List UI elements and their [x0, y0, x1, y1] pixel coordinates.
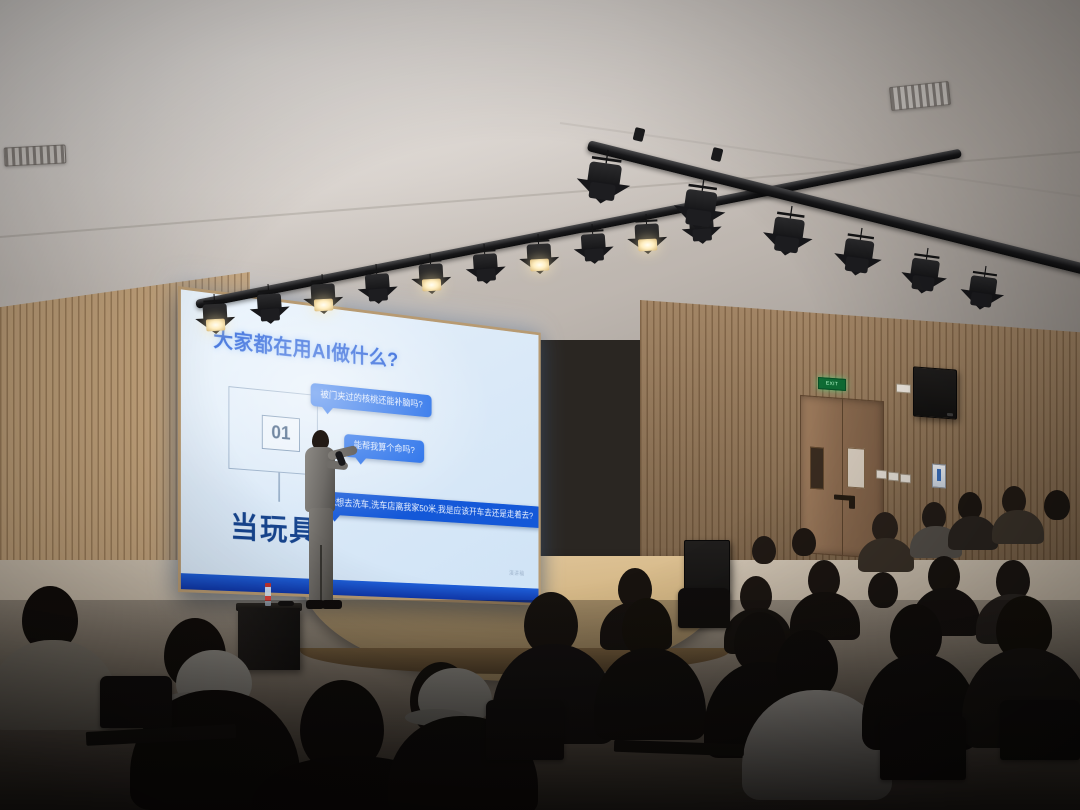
door-vision-panel	[810, 447, 824, 490]
projection-screen: 大家都在用AI做什么? 01 当玩具 被门夹过的核桃还能补脑吗? 能帮我算个命吗…	[178, 286, 541, 606]
door-split	[842, 399, 843, 555]
presenter-shoe	[322, 600, 342, 609]
lamp-lens	[530, 258, 550, 271]
section-tick	[278, 473, 280, 502]
lamp-lens	[476, 268, 496, 281]
lamp-lens	[638, 238, 658, 251]
lamp-lens	[422, 278, 442, 291]
door-notice	[847, 447, 865, 488]
audience-head	[1044, 490, 1070, 520]
audience-head	[752, 536, 776, 564]
light-switch[interactable]	[896, 383, 911, 393]
slide-title: 大家都在用AI做什么?	[213, 323, 398, 373]
bottle-label	[265, 596, 271, 601]
lamp-lens	[685, 208, 712, 227]
presenter-leg-split	[320, 545, 322, 605]
wall-speaker	[913, 366, 957, 419]
exit-sign: EXIT	[818, 377, 846, 391]
presentation-remote[interactable]	[278, 601, 294, 606]
lamp-lens	[260, 308, 280, 321]
lamp-lens	[368, 288, 388, 301]
lamp-lens	[774, 235, 800, 253]
auditorium-photo: EXIT 大家都在用AI做什么? 01 当玩具 被门夹过的核桃还能补脑吗? 能帮…	[0, 0, 1080, 810]
audience-chair[interactable]	[880, 716, 966, 780]
wall-notice-poster	[932, 463, 946, 488]
lamp-lens	[588, 182, 616, 202]
wall-plate	[876, 470, 887, 480]
chat-bubble: 我想去洗车,洗车店离我家50米,我是应该开车去还是走着去?	[318, 491, 541, 529]
audience-chair[interactable]	[678, 588, 730, 628]
poster-graphic-icon	[937, 469, 942, 481]
av-cabinet	[238, 608, 300, 670]
lamp-lens	[584, 248, 604, 261]
audience-head	[792, 528, 816, 556]
slide: 大家都在用AI做什么? 01 当玩具 被门夹过的核桃还能补脑吗? 能帮我算个命吗…	[181, 289, 539, 603]
lamp-lens	[911, 275, 935, 292]
wall-plate	[888, 472, 899, 482]
slide-watermark: 演讲稿	[509, 568, 524, 577]
lamp-lens	[206, 318, 226, 331]
section-number: 01	[262, 415, 300, 452]
audience-chair[interactable]	[486, 700, 564, 760]
door-handle[interactable]	[849, 496, 855, 509]
audience-chair[interactable]	[100, 676, 172, 728]
wall-plate	[900, 474, 911, 484]
lamp-lens	[314, 298, 334, 311]
audience-chair[interactable]	[1000, 700, 1080, 760]
audience-head	[868, 572, 898, 608]
exit-sign-label: EXIT	[826, 381, 838, 388]
lamp-lens	[845, 256, 870, 273]
chat-bubble: 被门夹过的核桃还能补脑吗?	[311, 383, 432, 418]
ceiling-vent-icon	[4, 144, 67, 166]
bottle-cap	[265, 583, 271, 587]
lamp-lens	[970, 292, 993, 308]
